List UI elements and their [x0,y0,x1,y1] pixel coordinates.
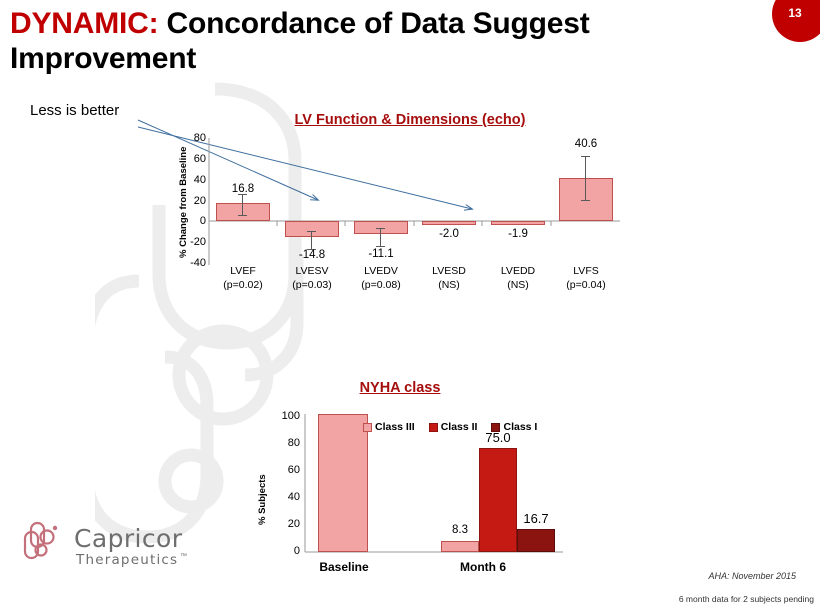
capricor-logo-subtitle: Therapeutics [76,552,178,568]
capricor-logo-mark [22,520,70,564]
nyha-bar-month6-class2 [479,448,517,552]
echo-errorbar-lvef [242,194,243,215]
footnote-note: 6 month data for 2 subjects pending [679,594,814,604]
echo-value-lvesv: -14.8 [282,249,342,261]
echo-cat-lvesv-name: LVESV [280,265,344,279]
nyha-legend-item-class1: Class I [491,421,537,433]
echo-errorbar-lvfs [585,156,586,200]
capricor-logo-tm: ™ [180,553,187,560]
echo-errorcap-lvfs-top [581,156,590,157]
echo-value-lvef: 16.8 [213,183,273,195]
echo-cat-lvesd: LVESD (NS) [417,265,481,293]
echo-bar-lvef [216,203,270,221]
echo-errorcap-lvesv-top [307,231,316,232]
echo-cat-lvef: LVEF (p=0.02) [211,265,275,293]
nyha-ytick-100: 100 [265,410,300,422]
page-title: DYNAMIC: Concordance of Data Suggest Imp… [10,6,750,76]
nyha-legend: Class III Class II Class I [363,421,537,433]
echo-cat-lvesv: LVESV (p=0.03) [280,265,344,293]
echo-bar-lvesv [285,221,339,237]
echo-cat-lvedv-p: (p=0.08) [349,279,413,293]
nyha-ytick-80: 80 [265,437,300,449]
nyha-legend-label-class3: Class III [375,421,415,433]
nyha-legend-item-class3: Class III [363,421,415,433]
echo-ytick-m40: -40 [178,257,206,269]
echo-cat-lvef-p: (p=0.02) [211,279,275,293]
nyha-ytick-20: 20 [265,518,300,530]
echo-cat-lvesd-name: LVESD [417,265,481,279]
nyha-bar-month6-class1 [517,529,555,552]
echo-errorcap-lvedv-bottom [376,246,385,247]
echo-bar-lvesd [422,221,476,225]
nyha-ytick-60: 60 [265,464,300,476]
slide-number-badge: 13 [772,0,820,42]
nyha-cat-baseline: Baseline [308,560,380,576]
less-is-better-annotation: Less is better [30,102,119,119]
echo-cat-lvfs-name: LVFS [554,265,618,279]
echo-errorbar-lvesv [311,231,312,249]
echo-errorbar-lvedv [380,228,381,246]
nyha-legend-swatch-class3 [363,423,372,432]
echo-cat-lvesd-p: (NS) [417,279,481,293]
echo-errorcap-lvfs-bottom [581,200,590,201]
slide-number: 13 [778,6,812,20]
nyha-legend-swatch-class2 [429,423,438,432]
echo-cat-lvedd: LVEDD (NS) [486,265,550,293]
echo-errorcap-lvef-bottom [238,215,247,216]
echo-cat-lvesv-p: (p=0.03) [280,279,344,293]
footnote-source: AHA: November 2015 [708,571,796,581]
echo-bar-lvedd [491,221,545,225]
echo-value-lvfs: 40.6 [556,138,616,150]
echo-ytick-0: 0 [178,215,206,227]
echo-value-lvedv: -11.1 [351,248,411,260]
nyha-chart-axes [0,0,820,615]
title-highlight: DYNAMIC: [10,7,158,40]
nyha-ytick-0: 0 [265,545,300,557]
echo-cat-lvfs: LVFS (p=0.04) [554,265,618,293]
echo-cat-lvedd-name: LVEDD [486,265,550,279]
capricor-logo: Capricor Therapeutics ™ [22,520,70,569]
capricor-logo-name: Capricor [74,524,182,553]
echo-ytick-20: 20 [178,195,206,207]
nyha-cat-month6: Month 6 [447,560,519,576]
echo-cat-lvedv: LVEDV (p=0.08) [349,265,413,293]
nyha-legend-swatch-class1 [491,423,500,432]
nyha-chart-title: NYHA class [300,380,500,396]
echo-cat-lvef-name: LVEF [211,265,275,279]
echo-ytick-60: 60 [178,153,206,165]
nyha-ytick-40: 40 [265,491,300,503]
echo-cat-lvedd-p: (NS) [486,279,550,293]
nyha-legend-item-class2: Class II [429,421,478,433]
nyha-legend-label-class1: Class I [503,421,537,433]
annotation-arrows [0,0,820,615]
nyha-bar-month6-class3 [441,541,479,552]
echo-ytick-80: 80 [178,132,206,144]
echo-value-lvedd: -1.9 [488,228,548,240]
nyha-legend-label-class2: Class II [441,421,478,433]
echo-ytick-40: 40 [178,174,206,186]
echo-ytick-m20: -20 [178,236,206,248]
echo-value-lvesd: -2.0 [419,228,479,240]
nyha-value-month6-class3: 8.3 [431,524,489,536]
echo-cat-lvfs-p: (p=0.04) [554,279,618,293]
echo-cat-lvedv-name: LVEDV [349,265,413,279]
echo-chart-axes [0,0,820,615]
nyha-value-month6-class1: 16.7 [507,511,565,526]
nyha-bar-baseline-class3 [318,414,368,552]
echo-errorcap-lvedv-top [376,228,385,229]
echo-chart-title: LV Function & Dimensions (echo) [240,112,580,128]
